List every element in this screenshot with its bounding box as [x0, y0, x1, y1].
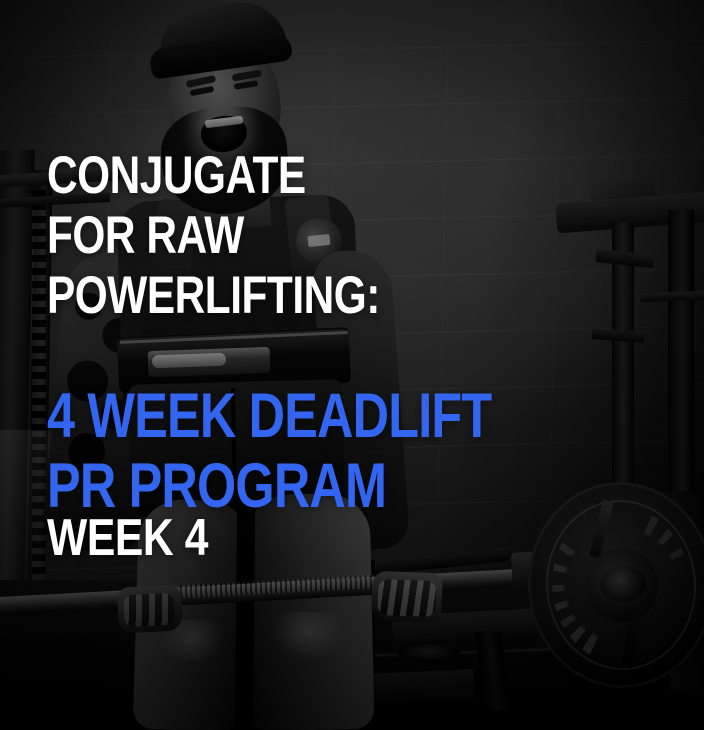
program-title-line-1: 4 WEEK DEADLIFT [47, 381, 491, 451]
week-subtitle-text: WEEK 4 [47, 509, 208, 567]
program-title: 4 WEEK DEADLIFT PR PROGRAM [47, 381, 603, 521]
headline-line-2: FOR RAW [47, 206, 380, 266]
headline-line-3: POWERLIFTING: [47, 266, 380, 326]
headline: CONJUGATE FOR RAW POWERLIFTING: [47, 146, 463, 326]
program-poster: CONJUGATE FOR RAW POWERLIFTING: 4 WEEK D… [0, 0, 704, 730]
text-overlay: CONJUGATE FOR RAW POWERLIFTING: 4 WEEK D… [0, 0, 704, 730]
week-subtitle: WEEK 4 [47, 509, 243, 567]
headline-line-1: CONJUGATE [47, 146, 380, 206]
